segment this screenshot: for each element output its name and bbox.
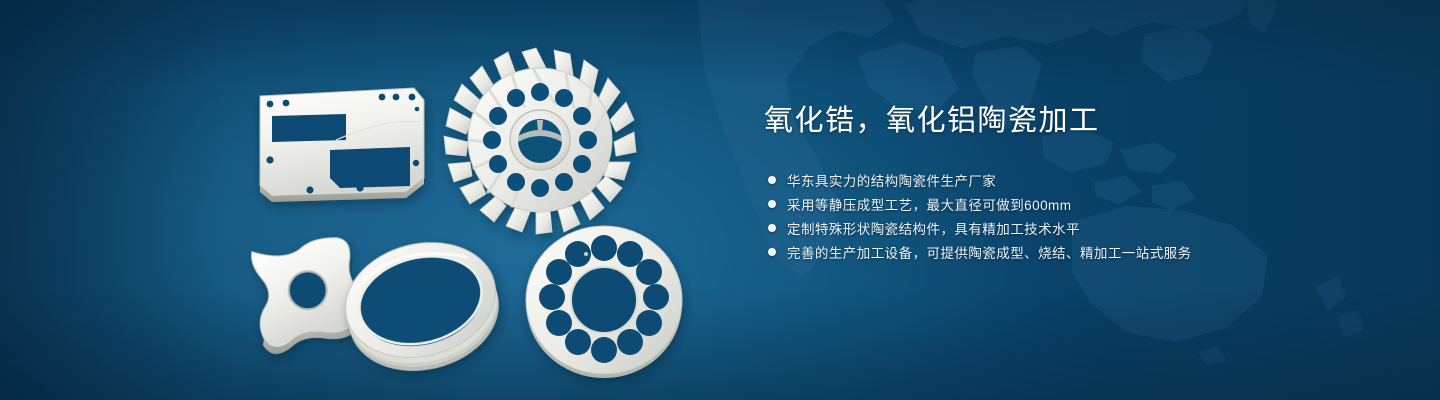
bullet-dot-icon: [768, 224, 776, 232]
feature-list: 华东具实力的结构陶瓷件生产厂家 采用等静压成型工艺，最大直径可做到600mm 定…: [764, 168, 1384, 264]
feature-text: 采用等静压成型工艺，最大直径可做到600mm: [787, 194, 1071, 214]
feature-text: 定制特殊形状陶瓷结构件，具有精加工技术水平: [787, 218, 1080, 238]
bullet-dot-icon: [768, 248, 776, 256]
bullet-dot-icon: [768, 176, 776, 184]
ceramic-parts-photo-group: [0, 0, 740, 400]
feature-text: 华东具实力的结构陶瓷件生产厂家: [787, 170, 996, 190]
list-item: 定制特殊形状陶瓷结构件，具有精加工技术水平: [764, 216, 1384, 240]
list-item: 采用等静压成型工艺，最大直径可做到600mm: [764, 192, 1384, 216]
ceramic-ring-stack-part: [333, 227, 511, 386]
ceramic-perforated-disc-part: [526, 226, 682, 378]
list-item: 华东具实力的结构陶瓷件生产厂家: [764, 168, 1384, 192]
page-title: 氧化锆，氧化铝陶瓷加工: [764, 104, 1384, 139]
promo-banner: 氧化锆，氧化铝陶瓷加工 华东具实力的结构陶瓷件生产厂家 采用等静压成型工艺，最大…: [0, 0, 1440, 400]
bullet-dot-icon: [768, 200, 776, 208]
banner-copy-block: 氧化锆，氧化铝陶瓷加工 华东具实力的结构陶瓷件生产厂家 采用等静压成型工艺，最大…: [764, 104, 1384, 264]
list-item: 完善的生产加工设备，可提供陶瓷成型、烧结、精加工一站式服务: [764, 240, 1384, 264]
feature-text: 完善的生产加工设备，可提供陶瓷成型、烧结、精加工一站式服务: [787, 242, 1192, 262]
ceramic-impeller-part: [444, 48, 636, 234]
ceramic-plate-part: [260, 88, 424, 202]
